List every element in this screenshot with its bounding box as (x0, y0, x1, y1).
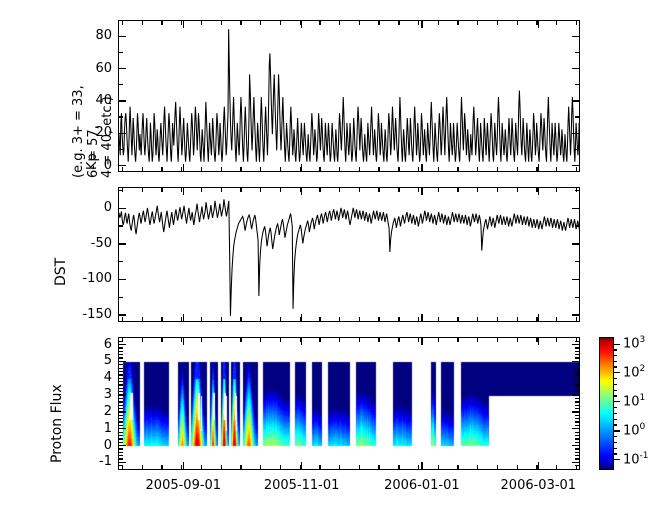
x-tick-minor-top (517, 21, 518, 25)
x-tick-minor (221, 317, 222, 321)
y-tick-major-right (572, 133, 579, 134)
y-tick-minor-right (575, 452, 579, 453)
x-tick-major-top (421, 188, 422, 195)
x-tick-minor-top (576, 188, 577, 192)
x-tick-minor-top (181, 21, 182, 25)
colorbar-tick-minor (613, 349, 617, 350)
y-tick-major (119, 428, 126, 429)
x-tick-minor-top (300, 188, 301, 192)
y-tick-major (119, 361, 126, 362)
x-tick-minor (260, 465, 261, 469)
x-tick-minor-top (556, 21, 557, 25)
x-tick-minor (517, 465, 518, 469)
x-tick-label: 2005-09-01 (131, 479, 235, 492)
x-tick-minor (556, 317, 557, 321)
colorbar-tick-label: 102 (623, 365, 645, 379)
y-tick-minor (119, 405, 123, 406)
y-tick-minor (119, 384, 123, 385)
x-tick-major (421, 164, 422, 171)
x-tick-major-top (421, 338, 422, 345)
x-tick-minor-top (161, 338, 162, 342)
x-tick-minor (319, 167, 320, 171)
y-tick-minor (119, 455, 123, 456)
x-tick-minor (438, 317, 439, 321)
x-tick-major (421, 462, 422, 469)
x-tick-minor-top (122, 21, 123, 25)
x-tick-minor-top (438, 188, 439, 192)
y-tick-major (119, 411, 126, 412)
x-tick-minor-top (378, 21, 379, 25)
x-tick-minor (497, 465, 498, 469)
y-tick-major (119, 208, 126, 209)
colorbar-tick-label: 10-1 (623, 452, 649, 466)
x-tick-minor-top (181, 188, 182, 192)
x-tick-minor (378, 465, 379, 469)
dst-plot-area (119, 188, 579, 321)
x-tick-minor-top (260, 21, 261, 25)
y-tick-minor (119, 401, 123, 402)
x-tick-minor-top (161, 188, 162, 192)
x-tick-major-top (421, 21, 422, 28)
x-tick-minor (359, 317, 360, 321)
x-tick-minor (477, 465, 478, 469)
x-tick-minor-top (240, 188, 241, 192)
x-tick-minor (300, 167, 301, 171)
x-tick-minor-top (438, 338, 439, 342)
x-tick-minor-top (280, 188, 281, 192)
x-tick-minor-top (221, 338, 222, 342)
y-tick-minor-right (575, 371, 579, 372)
x-tick-minor (181, 465, 182, 469)
x-tick-minor-top (556, 188, 557, 192)
y-tick-major-right (572, 279, 579, 280)
y-tick-minor-right (575, 435, 579, 436)
colorbar-tick-minor (613, 453, 617, 454)
x-tick-minor (576, 317, 577, 321)
x-tick-minor (536, 167, 537, 171)
y-tick-minor-right (575, 432, 579, 433)
y-tick-minor (119, 425, 123, 426)
x-tick-major (301, 164, 302, 171)
y-tick-major-right (572, 394, 579, 395)
x-tick-major-top (183, 188, 184, 195)
y-tick-minor (119, 438, 123, 439)
x-tick-minor (319, 465, 320, 469)
y-tick-minor-right (575, 442, 579, 443)
x-tick-minor (398, 167, 399, 171)
x-tick-minor (576, 465, 577, 469)
y-tick-minor-right (575, 455, 579, 456)
x-tick-minor-top (122, 338, 123, 342)
y-tick-minor (119, 347, 123, 348)
y-tick-minor (119, 364, 123, 365)
y-tick-minor-right (575, 401, 579, 402)
x-tick-minor-top (319, 188, 320, 192)
x-tick-minor (319, 317, 320, 321)
space-weather-figure: 020406080 Kp (e.g. 3+ = 33, 6- = 57, 4 =… (0, 0, 665, 523)
y-tick-label: 2 (60, 405, 112, 418)
x-tick-minor-top (181, 338, 182, 342)
x-tick-minor (240, 317, 241, 321)
x-tick-minor-top (457, 21, 458, 25)
x-tick-minor-top (497, 188, 498, 192)
x-tick-minor-top (517, 188, 518, 192)
x-tick-minor (536, 317, 537, 321)
y-tick-minor (119, 415, 123, 416)
y-tick-minor-right (575, 388, 579, 389)
x-tick-minor-top (457, 188, 458, 192)
y-tick-minor (119, 297, 123, 298)
y-tick-label: 4 (60, 371, 112, 384)
x-tick-minor (339, 167, 340, 171)
x-tick-minor (339, 465, 340, 469)
y-tick-minor (119, 418, 123, 419)
y-tick-minor-right (575, 418, 579, 419)
x-tick-major-top (301, 188, 302, 195)
y-tick-major-right (572, 445, 579, 446)
x-tick-minor-top (576, 21, 577, 25)
y-tick-label: -1 (60, 455, 112, 468)
x-tick-minor (359, 465, 360, 469)
x-tick-major-top (538, 338, 539, 345)
y-tick-minor (119, 391, 123, 392)
y-tick-minor-right (575, 225, 579, 226)
y-tick-minor (119, 225, 123, 226)
x-tick-major-top (538, 21, 539, 28)
colorbar-tick-major (613, 372, 620, 373)
colorbar-tick-minor (613, 366, 617, 367)
y-tick-minor (119, 368, 123, 369)
y-tick-minor-right (575, 149, 579, 150)
x-tick-minor-top (142, 338, 143, 342)
x-tick-minor-top (161, 21, 162, 25)
kp-axis-title: Kp (e.g. 3+ = 33, 6- = 57, 4 = 40, etc.) (30, 30, 90, 170)
x-tick-minor-top (477, 188, 478, 192)
colorbar-tick-minor (613, 407, 617, 408)
x-tick-minor-top (260, 338, 261, 342)
y-tick-minor-right (575, 84, 579, 85)
dst-axis-title-text: DST (54, 258, 70, 286)
y-tick-label: 6 (60, 338, 112, 351)
y-tick-major-right (572, 100, 579, 101)
colorbar-tick-label: 103 (623, 336, 645, 350)
x-tick-major (183, 314, 184, 321)
x-tick-minor (418, 465, 419, 469)
x-tick-label: 2006-01-01 (370, 479, 474, 492)
y-tick-minor (119, 458, 123, 459)
x-tick-minor (438, 465, 439, 469)
x-tick-minor (477, 167, 478, 171)
y-tick-minor-right (575, 261, 579, 262)
y-tick-minor-right (575, 408, 579, 409)
colorbar-tick-major (613, 459, 620, 460)
kp-axis-title-detail: (e.g. 3+ = 33, 6- = 57, 4 = 40, etc.) (72, 85, 116, 178)
x-tick-minor (201, 167, 202, 171)
x-tick-minor-top (438, 21, 439, 25)
x-tick-minor-top (477, 21, 478, 25)
x-tick-major (421, 314, 422, 321)
x-tick-minor (260, 317, 261, 321)
x-tick-minor (260, 167, 261, 171)
x-tick-minor-top (339, 21, 340, 25)
x-tick-minor (142, 465, 143, 469)
flux-plot-area (119, 338, 579, 469)
x-tick-minor (457, 317, 458, 321)
x-tick-minor (497, 167, 498, 171)
x-tick-minor-top (122, 188, 123, 192)
x-tick-minor-top (201, 21, 202, 25)
x-tick-minor-top (240, 338, 241, 342)
x-tick-minor (339, 317, 340, 321)
x-tick-minor-top (339, 338, 340, 342)
colorbar-tick-minor (613, 384, 617, 385)
x-tick-minor (221, 167, 222, 171)
flux-axis-title-text: Proton Flux (50, 384, 66, 463)
x-tick-minor (418, 167, 419, 171)
x-tick-minor-top (319, 338, 320, 342)
x-tick-minor (161, 465, 162, 469)
x-tick-minor (418, 317, 419, 321)
y-tick-major-right (572, 208, 579, 209)
flux-colorbar (599, 337, 614, 470)
x-tick-minor (122, 167, 123, 171)
y-tick-minor-right (575, 354, 579, 355)
x-tick-minor-top (201, 338, 202, 342)
dst-axis-title: DST (40, 200, 70, 320)
kp-title-line-2: (e.g. 3+ = 33, (72, 85, 87, 178)
x-tick-major-top (301, 338, 302, 345)
y-tick-minor-right (575, 368, 579, 369)
x-tick-major (301, 462, 302, 469)
y-tick-minor-right (575, 448, 579, 449)
y-tick-minor-right (575, 364, 579, 365)
colorbar-tick-major (613, 401, 620, 402)
x-tick-minor-top (221, 21, 222, 25)
y-tick-minor-right (575, 421, 579, 422)
y-tick-minor (119, 408, 123, 409)
x-tick-minor-top (142, 21, 143, 25)
y-tick-major-right (572, 36, 579, 37)
x-tick-minor (517, 317, 518, 321)
y-tick-label: 1 (60, 422, 112, 435)
colorbar-tick-minor (613, 395, 617, 396)
y-tick-minor (119, 52, 123, 53)
colorbar-tick-minor (613, 378, 617, 379)
flux-title-line-1: Proton Flux (50, 384, 66, 463)
y-tick-minor-right (575, 52, 579, 53)
x-tick-minor-top (418, 21, 419, 25)
x-tick-minor-top (300, 338, 301, 342)
kp-plot-area (119, 21, 579, 171)
x-tick-major (538, 462, 539, 469)
y-tick-minor (119, 116, 123, 117)
kp-title-line-4: 4 = 40, etc.) (101, 85, 116, 178)
y-tick-major-right (572, 314, 579, 315)
x-tick-minor-top (418, 188, 419, 192)
y-tick-minor (119, 398, 123, 399)
x-tick-minor-top (201, 188, 202, 192)
x-tick-minor-top (497, 338, 498, 342)
y-tick-minor (119, 452, 123, 453)
x-tick-minor-top (536, 21, 537, 25)
y-tick-major (119, 68, 126, 69)
x-tick-minor (280, 465, 281, 469)
y-tick-minor-right (575, 116, 579, 117)
x-tick-minor (378, 167, 379, 171)
y-tick-major-right (572, 68, 579, 69)
x-tick-minor (122, 317, 123, 321)
y-tick-major-right (572, 411, 579, 412)
x-tick-minor-top (576, 338, 577, 342)
x-tick-minor-top (398, 338, 399, 342)
y-tick-major-right (572, 344, 579, 345)
x-tick-minor-top (319, 21, 320, 25)
x-tick-minor-top (477, 338, 478, 342)
y-tick-major (119, 133, 126, 134)
y-tick-minor (119, 435, 123, 436)
colorbar-tick-minor (613, 413, 617, 414)
y-tick-minor-right (575, 357, 579, 358)
y-tick-major (119, 243, 126, 244)
x-tick-major-top (301, 21, 302, 28)
x-tick-minor (300, 465, 301, 469)
x-tick-minor (497, 317, 498, 321)
y-tick-label: 3 (60, 388, 112, 401)
x-tick-minor-top (517, 338, 518, 342)
x-tick-minor-top (398, 188, 399, 192)
x-tick-major-top (538, 188, 539, 195)
x-tick-minor-top (536, 188, 537, 192)
x-tick-minor (457, 167, 458, 171)
y-tick-major (119, 279, 126, 280)
dst-trace (119, 199, 579, 316)
x-tick-minor (161, 317, 162, 321)
x-tick-minor (201, 465, 202, 469)
y-tick-minor-right (575, 415, 579, 416)
x-tick-minor (359, 167, 360, 171)
y-tick-minor-right (575, 425, 579, 426)
x-tick-minor (201, 317, 202, 321)
x-tick-minor-top (378, 188, 379, 192)
y-tick-major (119, 378, 126, 379)
x-tick-minor-top (418, 338, 419, 342)
x-tick-minor-top (240, 21, 241, 25)
dst-title-line-1: DST (54, 258, 70, 286)
x-tick-minor-top (359, 338, 360, 342)
y-tick-minor-right (575, 405, 579, 406)
y-tick-major-right (572, 462, 579, 463)
dst-panel (118, 187, 580, 322)
x-tick-minor-top (556, 338, 557, 342)
y-tick-minor-right (575, 398, 579, 399)
y-tick-minor-right (575, 297, 579, 298)
y-tick-major (119, 445, 126, 446)
x-tick-minor-top (398, 21, 399, 25)
x-tick-minor-top (280, 21, 281, 25)
y-tick-minor-right (575, 384, 579, 385)
kp-title-line-3: 6- = 57, (87, 85, 102, 178)
x-tick-major (538, 164, 539, 171)
colorbar-tick-minor (613, 390, 617, 391)
x-tick-minor (181, 167, 182, 171)
colorbar-tick-major (613, 430, 620, 431)
flux-axis-title: Proton Flux (36, 345, 66, 470)
y-tick-major (119, 344, 126, 345)
x-tick-minor (142, 167, 143, 171)
y-tick-major-right (572, 361, 579, 362)
y-tick-minor-right (575, 347, 579, 348)
x-tick-minor (122, 465, 123, 469)
y-tick-minor-right (575, 351, 579, 352)
x-tick-major-top (183, 21, 184, 28)
y-tick-major (119, 394, 126, 395)
flux-spectrogram (119, 338, 579, 469)
x-tick-minor (438, 167, 439, 171)
y-tick-major (119, 314, 126, 315)
x-tick-minor-top (359, 188, 360, 192)
x-tick-minor (576, 167, 577, 171)
y-tick-major (119, 36, 126, 37)
y-tick-major (119, 100, 126, 101)
colorbar-tick-minor (613, 448, 617, 449)
y-tick-label: 5 (60, 354, 112, 367)
x-tick-minor (280, 317, 281, 321)
colorbar-tick-minor (613, 419, 617, 420)
y-tick-minor-right (575, 458, 579, 459)
x-tick-minor-top (359, 21, 360, 25)
x-tick-minor-top (260, 188, 261, 192)
y-tick-major-right (572, 378, 579, 379)
y-tick-minor (119, 381, 123, 382)
colorbar-tick-minor (613, 361, 617, 362)
colorbar-tick-major (613, 344, 620, 345)
x-tick-minor (398, 465, 399, 469)
y-tick-minor (119, 84, 123, 85)
x-tick-minor (556, 167, 557, 171)
y-tick-minor (119, 354, 123, 355)
y-tick-minor (119, 371, 123, 372)
x-tick-minor (142, 317, 143, 321)
x-tick-minor (161, 167, 162, 171)
x-tick-minor (280, 167, 281, 171)
kp-series (119, 21, 579, 171)
y-tick-minor (119, 448, 123, 449)
y-tick-minor (119, 149, 123, 150)
x-tick-major (538, 314, 539, 321)
x-tick-minor (398, 317, 399, 321)
colorbar-tick-label: 101 (623, 394, 645, 408)
x-tick-minor-top (378, 338, 379, 342)
x-tick-minor (181, 317, 182, 321)
x-tick-minor-top (536, 338, 537, 342)
x-tick-minor (477, 317, 478, 321)
x-tick-label: 2005-11-01 (250, 479, 354, 492)
y-tick-minor (119, 421, 123, 422)
x-tick-minor-top (142, 188, 143, 192)
x-tick-major (183, 462, 184, 469)
y-tick-minor-right (575, 374, 579, 375)
x-tick-minor (457, 465, 458, 469)
y-tick-minor (119, 442, 123, 443)
x-tick-minor-top (457, 338, 458, 342)
x-tick-major (301, 314, 302, 321)
y-tick-minor (119, 261, 123, 262)
x-tick-minor (556, 465, 557, 469)
kp-trace (119, 29, 579, 162)
x-tick-major (183, 164, 184, 171)
x-tick-major-top (183, 338, 184, 345)
x-tick-minor (240, 167, 241, 171)
